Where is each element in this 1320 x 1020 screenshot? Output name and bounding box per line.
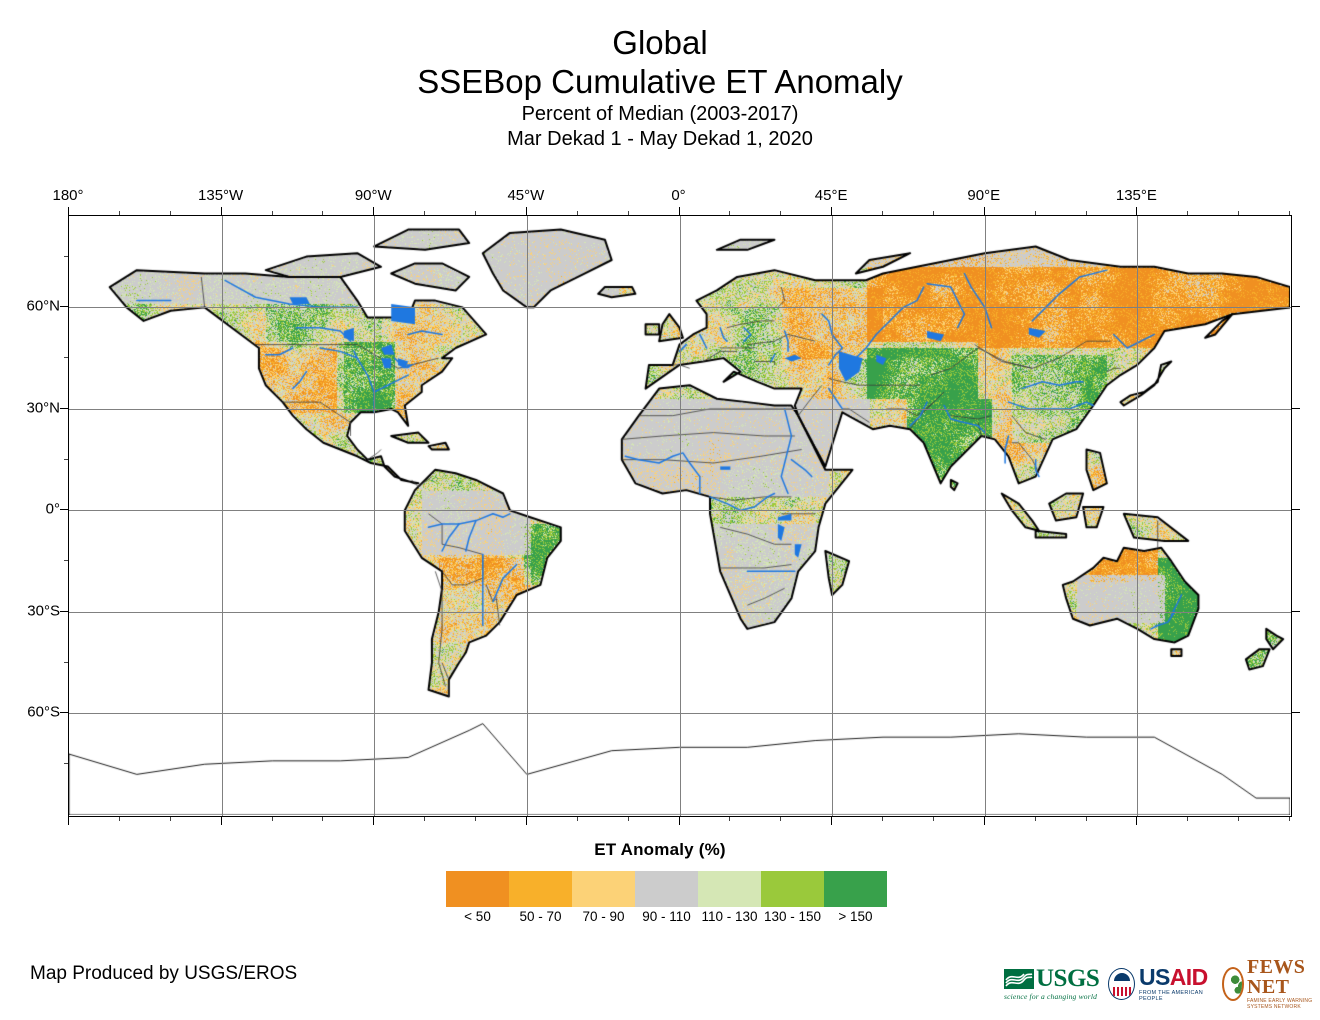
axis-tick-minor <box>1035 211 1036 215</box>
axis-tick-minor <box>882 211 883 215</box>
legend-color-bar <box>446 871 887 907</box>
axis-tick-major <box>526 817 527 825</box>
axis-tick-major <box>831 817 832 825</box>
axis-tick-minor <box>729 211 730 215</box>
footer-credit: Map Produced by USGS/EROS <box>30 963 297 985</box>
page-title-line-2: SSEBop Cumulative ET Anomaly <box>0 62 1320 102</box>
graticule-meridian <box>1137 216 1138 816</box>
usgs-logo: USGS science for a changing world <box>1004 966 1099 1001</box>
axis-tick-major <box>373 817 374 825</box>
axis-tick-major <box>679 207 680 215</box>
axis-tick-minor <box>170 817 171 821</box>
axis-tick-minor <box>1238 817 1239 821</box>
fewsnet-wordmark: FEWS NET <box>1247 957 1320 997</box>
axis-tick-major <box>373 207 374 215</box>
axis-tick-minor <box>119 817 120 821</box>
axis-tick-major <box>60 408 68 409</box>
axis-tick-minor <box>882 817 883 821</box>
graticule-meridian <box>222 216 223 816</box>
axis-tick-minor <box>1086 211 1087 215</box>
legend-swatch-1 <box>509 871 572 907</box>
axis-tick-major <box>68 817 69 825</box>
axis-tick-minor <box>272 211 273 215</box>
axis-tick-minor <box>424 211 425 215</box>
axis-tick-minor <box>933 817 934 821</box>
logo-row: USGS science for a changing world USAID … <box>1004 957 1320 1010</box>
axis-tick-minor <box>933 211 934 215</box>
axis-tick-major <box>60 712 68 713</box>
axis-tick-minor <box>1086 817 1087 821</box>
axis-tick-minor <box>780 817 781 821</box>
axis-tick-major <box>60 509 68 510</box>
legend-label-6: > 150 <box>824 909 887 924</box>
legend-swatch-5 <box>761 871 824 907</box>
usgs-wordmark: USGS <box>1036 966 1099 991</box>
graticule-meridian <box>832 216 833 816</box>
axis-tick-minor <box>322 817 323 821</box>
axis-tick-major <box>1292 509 1300 510</box>
legend: ET Anomaly (%) < 5050 - 7070 - 9090 - 11… <box>0 840 1320 933</box>
legend-swatch-6 <box>824 871 887 907</box>
axis-tick-major <box>831 207 832 215</box>
axis-tick-minor <box>119 211 120 215</box>
lon-tick-label: 45°E <box>815 187 848 204</box>
axis-tick-major <box>1136 207 1137 215</box>
axis-tick-minor <box>628 817 629 821</box>
axis-tick-minor <box>272 817 273 821</box>
lat-tick-label: 30°S <box>10 602 60 619</box>
axis-tick-major <box>1292 712 1300 713</box>
axis-tick-major <box>60 306 68 307</box>
page-title-line-1: Global <box>0 24 1320 62</box>
axis-tick-major <box>1292 408 1300 409</box>
axis-tick-major <box>984 817 985 825</box>
axis-tick-minor <box>1238 211 1239 215</box>
lon-tick-label: 135°E <box>1116 187 1157 204</box>
lat-tick-label: 60°S <box>10 704 60 721</box>
axis-tick-major <box>1292 306 1300 307</box>
axis-tick-minor <box>729 817 730 821</box>
usgs-wave-icon <box>1004 969 1034 989</box>
lon-tick-label: 45°W <box>507 187 544 204</box>
axis-tick-major <box>1136 817 1137 825</box>
axis-tick-minor <box>475 817 476 821</box>
legend-label-1: 50 - 70 <box>509 909 572 924</box>
axis-tick-minor <box>1289 817 1290 821</box>
axis-tick-major <box>221 817 222 825</box>
axis-tick-major <box>526 207 527 215</box>
usgs-tagline: science for a changing world <box>1004 992 1097 1001</box>
axis-tick-major <box>1292 611 1300 612</box>
lon-tick-label: 0° <box>671 187 685 204</box>
axis-tick-minor <box>628 211 629 215</box>
axis-tick-major <box>221 207 222 215</box>
globe-icon <box>1222 967 1244 1001</box>
graticule-meridian <box>374 216 375 816</box>
axis-tick-minor <box>1187 211 1188 215</box>
legend-swatch-3 <box>635 871 698 907</box>
lat-tick-label: 0° <box>10 501 60 518</box>
legend-label-5: 130 - 150 <box>761 909 824 924</box>
usaid-wordmark-aid: AID <box>1170 964 1208 990</box>
title-block: Global SSEBop Cumulative ET Anomaly Perc… <box>0 24 1320 152</box>
axis-tick-minor <box>1187 817 1188 821</box>
graticule-parallel <box>69 510 1291 511</box>
axis-tick-minor <box>577 211 578 215</box>
lon-tick-label: 180° <box>52 187 83 204</box>
graticule-meridian <box>527 216 528 816</box>
axis-tick-major <box>679 817 680 825</box>
graticule-meridian <box>680 216 681 816</box>
legend-title: ET Anomaly (%) <box>0 840 1320 860</box>
axis-tick-minor <box>64 459 68 460</box>
axis-tick-major <box>60 611 68 612</box>
axis-tick-minor <box>170 211 171 215</box>
axis-tick-minor <box>64 662 68 663</box>
graticule-meridian <box>985 216 986 816</box>
legend-label-3: 90 - 110 <box>635 909 698 924</box>
fewsnet-tagline: FAMINE EARLY WARNING SYSTEMS NETWORK <box>1247 998 1320 1010</box>
graticule-parallel <box>69 612 1291 613</box>
legend-label-0: < 50 <box>446 909 509 924</box>
usaid-logo: USAID FROM THE AMERICAN PEOPLE <box>1108 966 1213 1002</box>
lon-tick-label: 135°W <box>198 187 243 204</box>
lon-tick-label: 90°E <box>967 187 1000 204</box>
axis-tick-minor <box>1289 211 1290 215</box>
usaid-tagline: FROM THE AMERICAN PEOPLE <box>1139 990 1213 1002</box>
axis-tick-major <box>984 207 985 215</box>
legend-swatch-4 <box>698 871 761 907</box>
legend-swatch-2 <box>572 871 635 907</box>
axis-tick-minor <box>780 211 781 215</box>
legend-label-4: 110 - 130 <box>698 909 761 924</box>
axis-tick-minor <box>64 256 68 257</box>
axis-tick-minor <box>424 817 425 821</box>
usaid-seal-icon <box>1108 968 1135 1000</box>
axis-tick-minor <box>64 763 68 764</box>
axis-tick-minor <box>64 560 68 561</box>
legend-label-2: 70 - 90 <box>572 909 635 924</box>
map-panel[interactable] <box>68 215 1292 817</box>
lat-tick-label: 60°N <box>10 298 60 315</box>
legend-label-row: < 5050 - 7070 - 9090 - 110110 - 130130 -… <box>446 909 887 924</box>
subtitle-daterange: Mar Dekad 1 - May Dekad 1, 2020 <box>0 127 1320 152</box>
lon-tick-label: 90°W <box>355 187 392 204</box>
legend-swatch-0 <box>446 871 509 907</box>
axis-tick-minor <box>1035 817 1036 821</box>
axis-tick-minor <box>577 817 578 821</box>
fewsnet-logo: FEWS NET FAMINE EARLY WARNING SYSTEMS NE… <box>1222 957 1320 1010</box>
axis-tick-minor <box>64 357 68 358</box>
graticule-parallel <box>69 409 1291 410</box>
axis-tick-major <box>68 207 69 215</box>
lat-tick-label: 30°N <box>10 399 60 416</box>
graticule-parallel <box>69 713 1291 714</box>
graticule-parallel <box>69 307 1291 308</box>
usaid-wordmark-us: US <box>1139 964 1170 990</box>
subtitle-period: Percent of Median (2003-2017) <box>0 102 1320 127</box>
legend-bar-wrap: < 5050 - 7070 - 9090 - 110110 - 130130 -… <box>0 871 1320 933</box>
axis-tick-minor <box>475 211 476 215</box>
axis-tick-minor <box>322 211 323 215</box>
